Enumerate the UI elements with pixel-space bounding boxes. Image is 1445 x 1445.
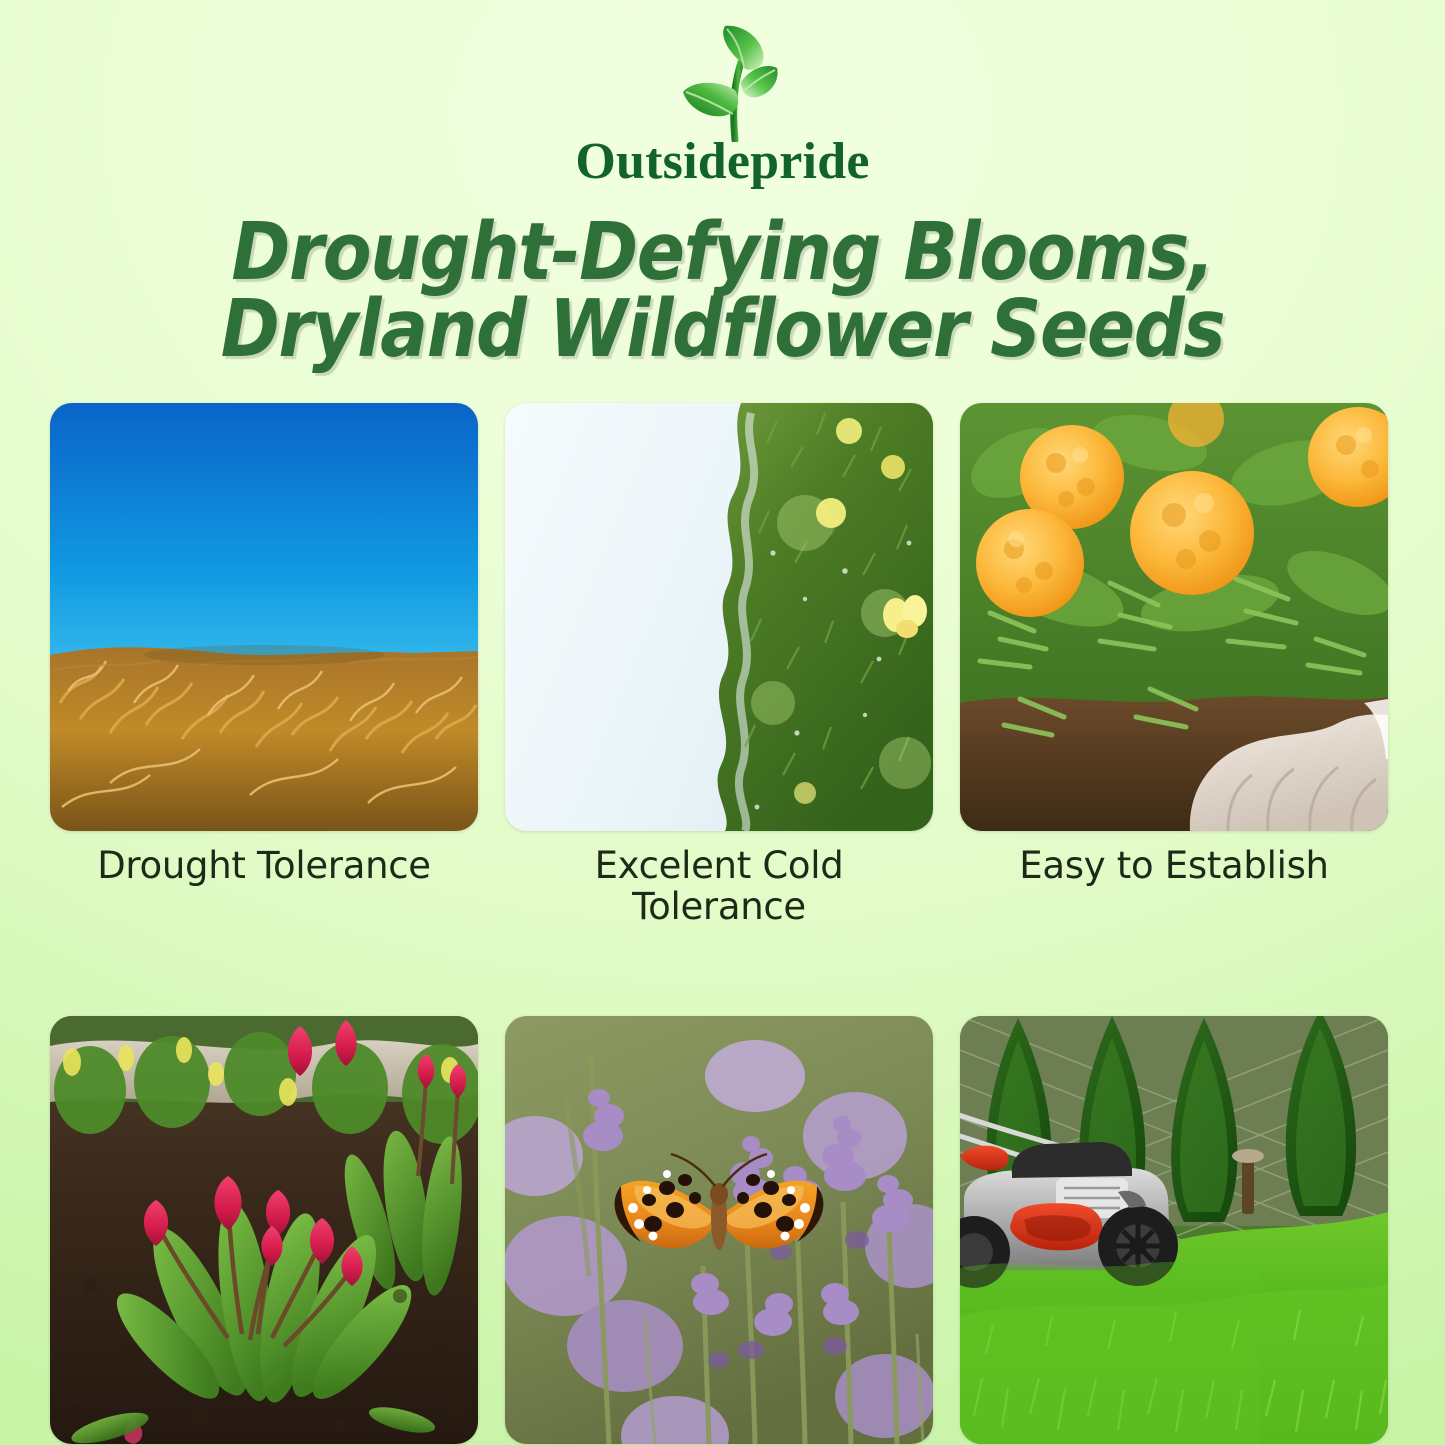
feature-grid: Drought Tolerance — [50, 403, 1400, 1445]
lawn-mower-photo — [960, 1016, 1388, 1444]
feature-caption: Drought Tolerance — [50, 845, 478, 886]
feature-card-drought-tolerance: Drought Tolerance — [50, 403, 478, 928]
feature-card-low-maintenance: Low Maintenance — [960, 1016, 1388, 1445]
marigold-planting-photo — [960, 403, 1388, 831]
feature-card-pollinator: Pollinator Mix Potential — [505, 1016, 933, 1445]
dry-scrubland-photo — [50, 403, 478, 831]
feature-caption: Easy to Establish — [960, 845, 1388, 886]
snow-and-grass-photo — [505, 403, 933, 831]
seedling-leaf-icon — [653, 22, 793, 142]
butterfly-lavender-photo — [505, 1016, 933, 1444]
poster-root: Outsidepride Drought-Defying Blooms, Dry… — [0, 0, 1445, 1445]
brand-name: Outsidepride — [0, 136, 1445, 188]
feature-caption: Excelent Cold Tolerance — [505, 845, 933, 928]
tulip-bed-photo — [50, 1016, 478, 1444]
header: Outsidepride Drought-Defying Blooms, Dry… — [0, 0, 1445, 369]
brand-logo: Outsidepride — [0, 0, 1445, 188]
feature-card-easy-establish: Easy to Establish — [960, 403, 1388, 928]
feature-card-cold-tolerance: Excelent Cold Tolerance — [505, 403, 933, 928]
page-title: Drought-Defying Blooms, Dryland Wildflow… — [72, 214, 1373, 369]
feature-card-soil-range: Adaptable to Wide Range of Soil — [50, 1016, 478, 1445]
